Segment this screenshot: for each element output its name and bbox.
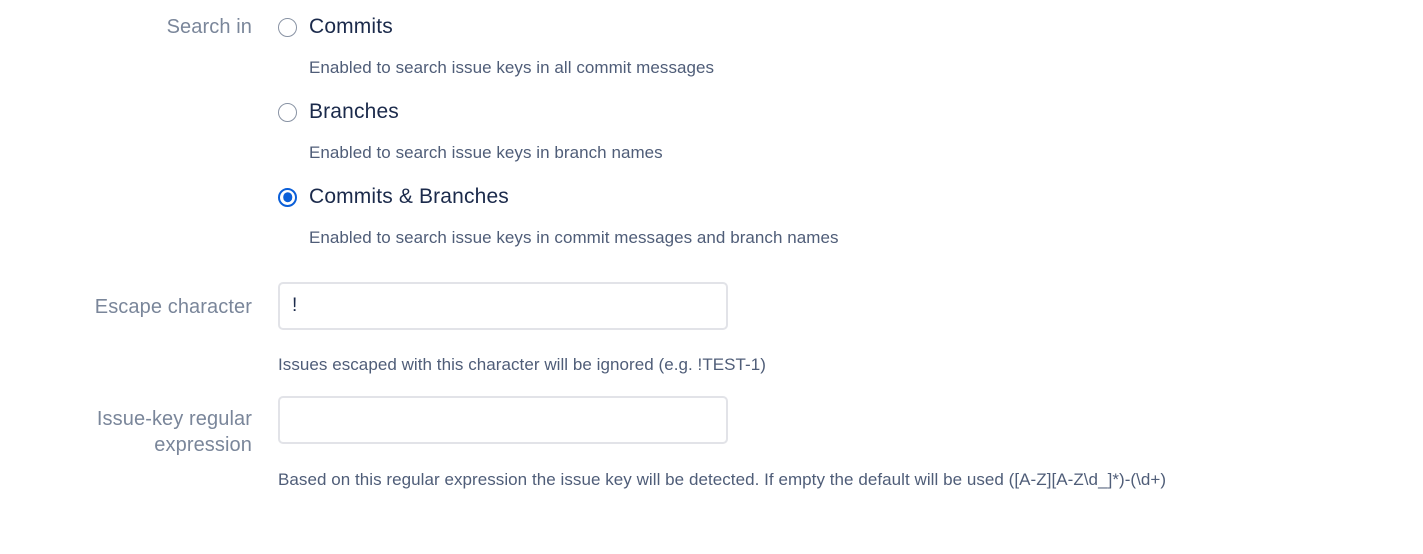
search-in-control: Commits Enabled to search issue keys in … <box>252 14 839 249</box>
escape-character-label: Escape character <box>0 282 252 320</box>
repository-settings-form: Search in Commits Enabled to search issu… <box>0 0 1423 554</box>
issue-key-regex-field-row: Issue-key regular expression Based on th… <box>0 396 1166 495</box>
search-in-label: Search in <box>0 14 252 40</box>
radio-circle-icon[interactable] <box>278 103 297 122</box>
issue-key-regex-help-text: Based on this regular expression the iss… <box>278 464 1166 495</box>
issue-key-regex-label: Issue-key regular expression <box>0 396 252 458</box>
radio-circle-selected-icon[interactable] <box>278 188 297 207</box>
radio-circle-icon[interactable] <box>278 18 297 37</box>
radio-description-branches: Enabled to search issue keys in branch n… <box>309 142 839 164</box>
radio-label-commits: Commits <box>309 14 393 40</box>
escape-character-control: Issues escaped with this character will … <box>252 282 766 380</box>
search-in-radio-group[interactable]: Commits Enabled to search issue keys in … <box>278 14 839 249</box>
radio-option-branches[interactable]: Branches <box>278 99 839 125</box>
radio-option-commits[interactable]: Commits <box>278 14 839 40</box>
radio-label-branches: Branches <box>309 99 399 125</box>
search-in-field-row: Search in Commits Enabled to search issu… <box>0 14 839 249</box>
radio-description-commits-and-branches: Enabled to search issue keys in commit m… <box>309 227 839 249</box>
escape-character-input[interactable] <box>278 282 728 330</box>
issue-key-regex-control: Based on this regular expression the iss… <box>252 396 1166 495</box>
escape-character-field-row: Escape character Issues escaped with thi… <box>0 282 766 380</box>
radio-description-commits: Enabled to search issue keys in all comm… <box>309 57 839 79</box>
issue-key-regex-input[interactable] <box>278 396 728 444</box>
radio-option-commits-and-branches[interactable]: Commits & Branches <box>278 184 839 210</box>
escape-character-help-text: Issues escaped with this character will … <box>278 349 766 380</box>
radio-label-commits-and-branches: Commits & Branches <box>309 184 509 210</box>
